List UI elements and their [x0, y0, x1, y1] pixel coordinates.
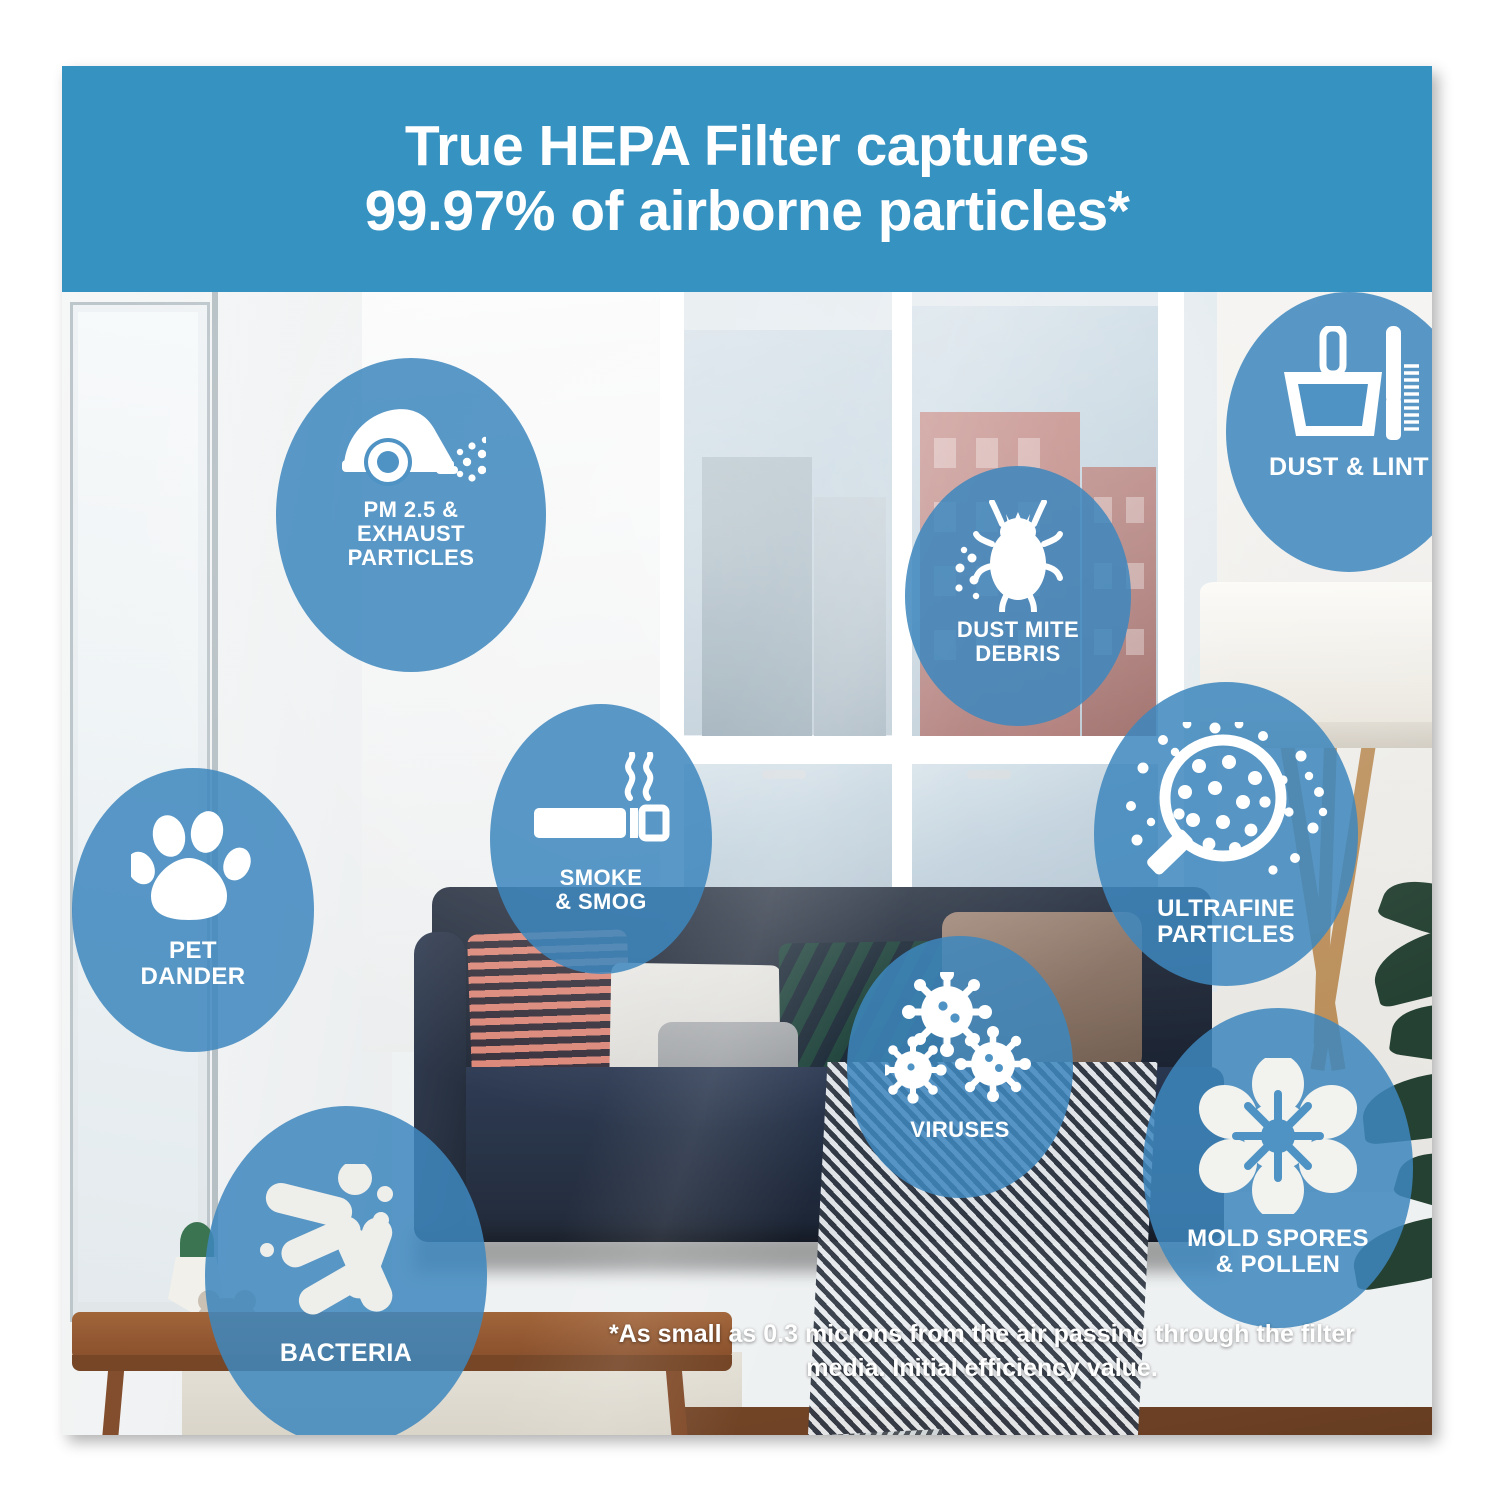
virus-icon — [847, 972, 1073, 1108]
badge-label: BACTERIA — [280, 1340, 412, 1368]
city-building — [814, 497, 886, 737]
badge-label: MOLD SPORES & POLLEN — [1187, 1226, 1369, 1279]
footnote-text: *As small as 0.3 microns from the air pa… — [582, 1318, 1382, 1386]
paw-print-icon — [72, 810, 314, 926]
window-handle — [967, 770, 1011, 779]
badge-label: VIRUSES — [910, 1118, 1009, 1142]
badge-label: PM 2.5 & EXHAUST PARTICLES — [348, 498, 475, 571]
headline-line-1: True HEPA Filter captures — [405, 114, 1089, 179]
window-handle — [762, 770, 806, 779]
badge-label: PET DANDER — [140, 938, 245, 991]
cigarette-smoke-icon — [490, 752, 712, 848]
bacteria-rods-icon — [205, 1164, 487, 1320]
badge-bacteria[interactable]: BACTERIA — [205, 1106, 487, 1435]
badge-pm25-exhaust-particles[interactable]: PM 2.5 & EXHAUST PARTICLES — [276, 358, 546, 672]
pollen-flower-icon — [1143, 1058, 1413, 1214]
city-building — [702, 457, 812, 737]
dust-mite-icon — [905, 500, 1131, 612]
dustpan-brush-icon — [1226, 326, 1432, 444]
badge-label: DUST & LINT — [1269, 454, 1429, 482]
headline-banner: True HEPA Filter captures 99.97% of airb… — [62, 66, 1432, 292]
badge-dust-mite-debris[interactable]: DUST MITE DEBRIS — [905, 466, 1131, 726]
badge-ultrafine-particles[interactable]: ULTRAFINE PARTICLES — [1094, 682, 1358, 986]
window-mullion — [660, 736, 1184, 764]
car-exhaust-icon — [276, 402, 546, 488]
badge-label: SMOKE & SMOG — [555, 866, 647, 914]
magnifier-particles-icon — [1094, 722, 1358, 890]
poster-card: True HEPA Filter captures 99.97% of airb… — [62, 66, 1432, 1435]
badge-mold-spores-pollen[interactable]: MOLD SPORES & POLLEN — [1143, 1008, 1413, 1328]
badge-viruses[interactable]: VIRUSES — [847, 936, 1073, 1198]
badge-label: DUST MITE DEBRIS — [957, 618, 1079, 666]
headline-line-2: 99.97% of airborne particles* — [365, 179, 1130, 244]
badge-pet-dander[interactable]: PET DANDER — [72, 768, 314, 1052]
badge-label: ULTRAFINE PARTICLES — [1157, 896, 1295, 949]
badge-smoke-smog[interactable]: SMOKE & SMOG — [490, 704, 712, 974]
